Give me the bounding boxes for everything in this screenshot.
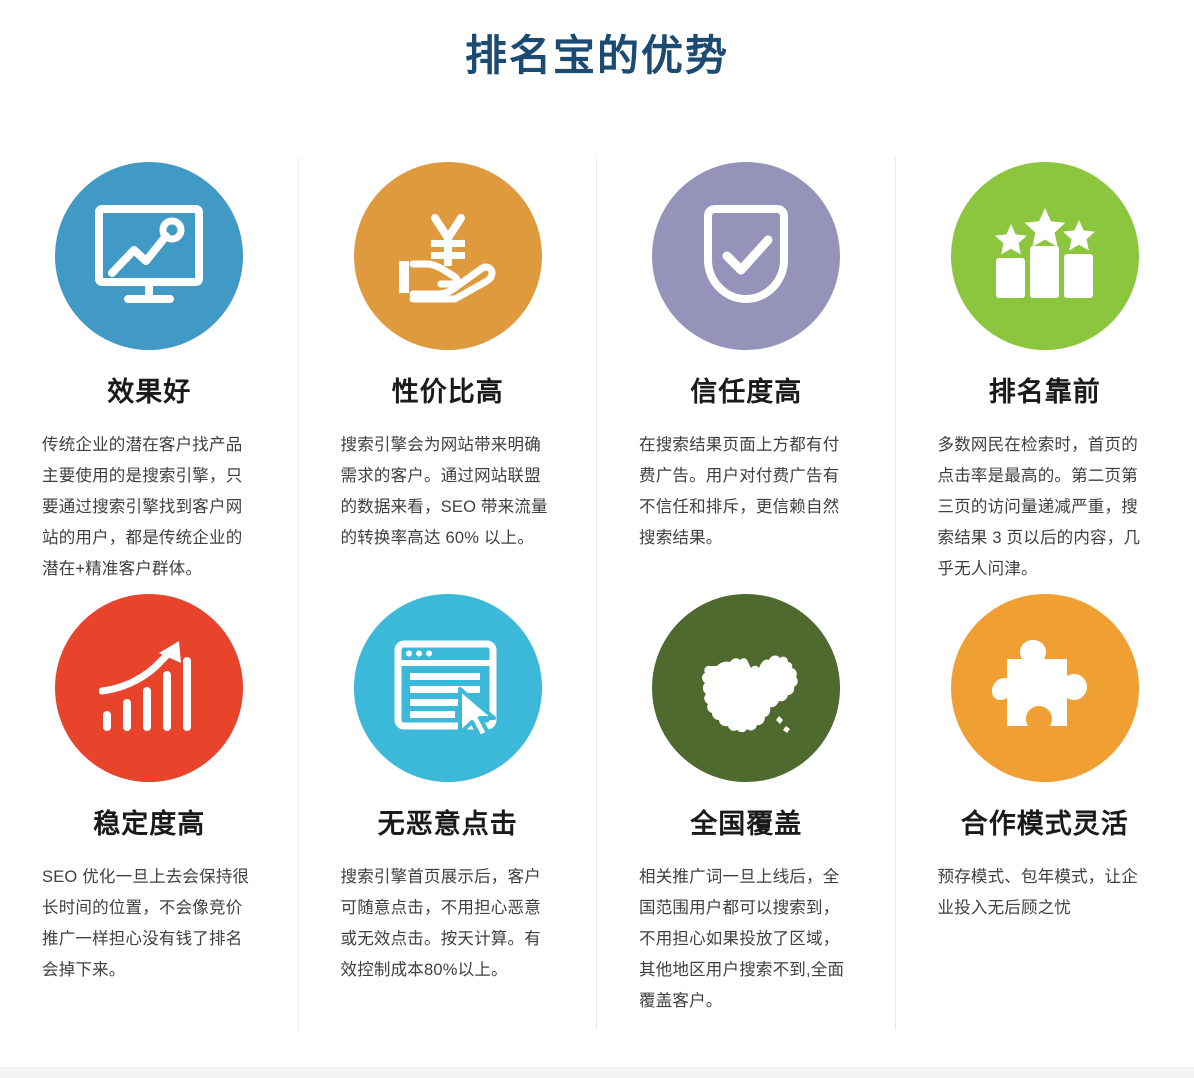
- card-description: 多数网民在检索时，首页的点击率是最高的。第二页第三页的访问量递减严重，搜索结果 …: [938, 430, 1153, 585]
- card-description: 搜索引擎首页展示后，客户可随意点击，不用担心恶意或无效点击。按天计算。有效控制成…: [341, 862, 556, 986]
- advantage-card-value[interactable]: 性价比高 搜索引擎会为网站带来明确需求的客户。通过网站联盟的数据来看，SEO 带…: [299, 158, 598, 590]
- browser-cursor-icon: [354, 594, 542, 782]
- advantage-card-no-click-fraud[interactable]: 无恶意点击 搜索引擎首页展示后，客户可随意点击，不用担心恶意或无效点击。按天计算…: [299, 590, 598, 1030]
- page-title: 排名宝的优势: [0, 30, 1194, 83]
- card-title: 效果好: [107, 376, 191, 408]
- advantage-card-ranking[interactable]: 排名靠前 多数网民在检索时，首页的点击率是最高的。第二页第三页的访问量递减严重，…: [896, 158, 1194, 590]
- card-description: 预存模式、包年模式，让企业投入无后顾之忧: [938, 862, 1153, 924]
- shield-check-icon: [652, 162, 840, 350]
- advantages-page: 排名宝的优势 效果好 传统企业的潜在客户找产品主要使用的是搜索引擎，只要通过搜索…: [0, 0, 1194, 1078]
- card-title: 无恶意点击: [378, 808, 518, 840]
- advantage-card-effect[interactable]: 效果好 传统企业的潜在客户找产品主要使用的是搜索引擎，只要通过搜索引擎找到客户网…: [0, 158, 299, 590]
- card-title: 全国覆盖: [690, 808, 802, 840]
- advantages-grid: 效果好 传统企业的潜在客户找产品主要使用的是搜索引擎，只要通过搜索引擎找到客户网…: [0, 158, 1194, 1030]
- bottom-band: [0, 1067, 1194, 1078]
- advantage-card-nationwide[interactable]: 全国覆盖 相关推广词一旦上线后，全国范围用户都可以搜索到，不用担心如果投放了区域…: [597, 590, 896, 1030]
- card-description: SEO 优化一旦上去会保持很长时间的位置，不会像竞价推广一样担心没有钱了排名会掉…: [42, 862, 257, 986]
- card-description: 相关推广词一旦上线后，全国范围用户都可以搜索到，不用担心如果投放了区域，其他地区…: [639, 862, 854, 1017]
- hand-yuan-icon: [354, 162, 542, 350]
- card-description: 传统企业的潜在客户找产品主要使用的是搜索引擎，只要通过搜索引擎找到客户网站的用户…: [42, 430, 257, 585]
- advantage-card-stability[interactable]: 稳定度高 SEO 优化一旦上去会保持很长时间的位置，不会像竞价推广一样担心没有钱…: [0, 590, 299, 1030]
- china-map-icon: [652, 594, 840, 782]
- card-title: 合作模式灵活: [961, 808, 1129, 840]
- growth-arrow-chart-icon: [55, 594, 243, 782]
- card-title: 排名靠前: [989, 376, 1101, 408]
- card-description: 搜索引擎会为网站带来明确需求的客户。通过网站联盟的数据来看，SEO 带来流量的转…: [341, 430, 556, 554]
- card-title: 性价比高: [392, 376, 504, 408]
- advantage-card-trust[interactable]: 信任度高 在搜索结果页面上方都有付费广告。用户对付费广告有不信任和排斥，更信赖自…: [597, 158, 896, 590]
- puzzle-piece-icon: [951, 594, 1139, 782]
- card-description: 在搜索结果页面上方都有付费广告。用户对付费广告有不信任和排斥，更信赖自然搜索结果…: [639, 430, 854, 554]
- podium-stars-icon: [951, 162, 1139, 350]
- monitor-chart-icon: [55, 162, 243, 350]
- card-title: 信任度高: [690, 376, 802, 408]
- card-title: 稳定度高: [93, 808, 205, 840]
- advantage-card-flexible[interactable]: 合作模式灵活 预存模式、包年模式，让企业投入无后顾之忧: [896, 590, 1194, 1030]
